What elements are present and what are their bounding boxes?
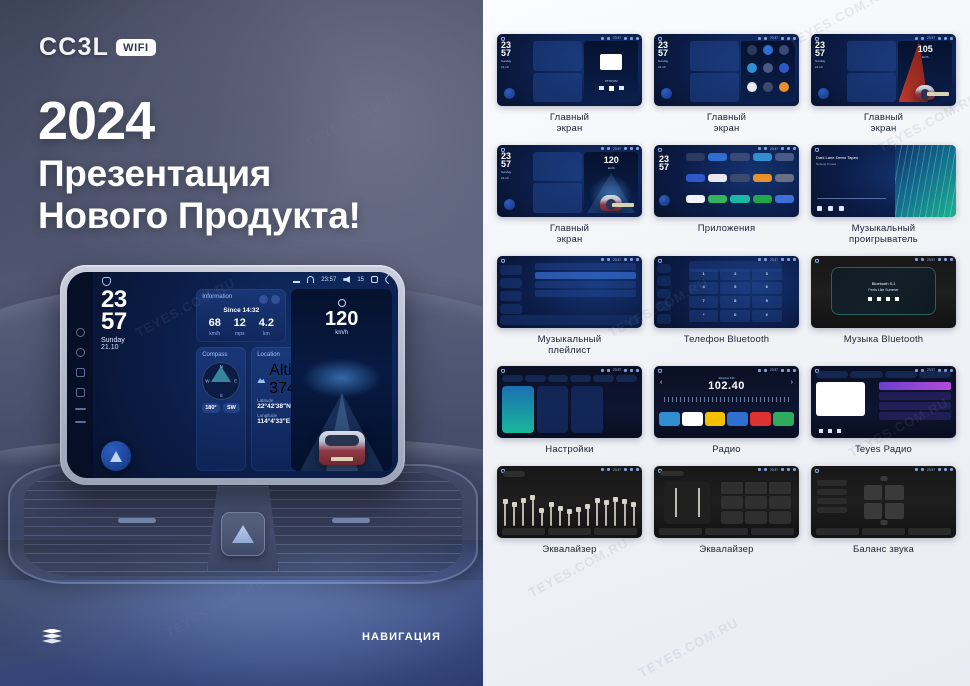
- speed-unit: km/h: [291, 330, 392, 336]
- speed-value: 105: [898, 45, 952, 54]
- eq-preset-button[interactable]: [769, 482, 791, 495]
- next-icon[interactable]: [619, 86, 624, 90]
- screen-thumbnail[interactable]: 23:57: [497, 256, 642, 328]
- side-button-rail[interactable]: [67, 272, 93, 478]
- screen-thumbnail[interactable]: 23:572357Sunday21.1007:50 FM: [497, 34, 642, 106]
- dialpad-key[interactable]: 3: [752, 269, 782, 281]
- power-icon[interactable]: [76, 328, 85, 337]
- car-3d-model: [915, 85, 935, 100]
- compass-values: 180° SW: [202, 403, 240, 413]
- menu-icon[interactable]: [75, 408, 86, 410]
- gallery-item-caption: Радио: [712, 444, 740, 455]
- eq-slider[interactable]: [587, 504, 589, 526]
- driving-view-widget[interactable]: 105km/h: [898, 41, 952, 102]
- app-icon[interactable]: [779, 45, 789, 55]
- gallery-item[interactable]: 23:572357Приложения: [654, 145, 799, 246]
- mountain-icon: [257, 377, 265, 383]
- compass-widget[interactable]: Compass N S W E 180°: [196, 347, 246, 471]
- information-widget[interactable]: Information Since 14:32 68: [196, 289, 286, 342]
- cast-icon: [944, 468, 947, 471]
- speed-limit-icon: [338, 299, 346, 307]
- app-icon[interactable]: [779, 82, 789, 92]
- eq-slider[interactable]: [633, 502, 635, 526]
- signal-icon: [915, 37, 918, 40]
- clock-widget: 2357: [659, 155, 682, 171]
- gallery-item[interactable]: 23:572357Sunday21.10120km/hГлавный экран: [497, 145, 642, 246]
- tab-artists[interactable]: [500, 291, 522, 301]
- player-controls: [868, 297, 899, 301]
- settings-tab[interactable]: [548, 375, 569, 382]
- brand-logo: CC3L WIFI: [39, 33, 156, 62]
- information-actions[interactable]: [259, 295, 280, 304]
- clock-day: Sunday: [501, 170, 531, 174]
- cast-icon: [787, 258, 790, 261]
- preset-label: [660, 471, 684, 476]
- tab-albums[interactable]: [500, 278, 522, 288]
- eq-slider[interactable]: [522, 498, 524, 525]
- eq-preset-button[interactable]: [745, 511, 767, 524]
- navigation-button[interactable]: [101, 441, 131, 471]
- eq-slider[interactable]: [578, 507, 580, 525]
- play-pause-icon[interactable]: [877, 297, 881, 301]
- screen-thumbnail[interactable]: 23:57: [497, 466, 642, 538]
- screen-thumbnail[interactable]: 23:57: [811, 466, 956, 538]
- radio-presets: [659, 412, 794, 426]
- clock-date: 21.10: [501, 176, 531, 180]
- volume-icon: [624, 258, 627, 261]
- station-item[interactable]: [879, 412, 952, 420]
- radio-preset[interactable]: [659, 412, 680, 426]
- screen-thumbnail[interactable]: 23:572357: [654, 145, 799, 217]
- ui-screen: 23:57 15 23 57 Sunday 21.10: [93, 272, 398, 478]
- preset[interactable]: [817, 489, 847, 495]
- prev-icon[interactable]: [599, 86, 604, 90]
- prev-icon[interactable]: [868, 297, 872, 301]
- headline-year: 2024: [38, 95, 361, 148]
- home-icon[interactable]: [815, 148, 819, 152]
- preset[interactable]: [817, 507, 847, 513]
- back-icon: [636, 369, 639, 372]
- app-icon[interactable]: [753, 195, 772, 203]
- dialpad-key[interactable]: 5: [720, 282, 750, 294]
- stat-value: 68: [209, 318, 221, 329]
- media-widget[interactable]: 07:50 FM: [584, 41, 638, 102]
- eq-slider[interactable]: [550, 502, 552, 526]
- home-layout: 23 57 Sunday 21.10: [101, 289, 392, 471]
- navigation-button[interactable]: [818, 88, 829, 99]
- dialpad-key[interactable]: 9: [752, 296, 782, 308]
- tab-fade[interactable]: [751, 528, 794, 535]
- warning-triangle-icon: [232, 525, 254, 543]
- eq-band-sliders: [504, 482, 635, 526]
- hero-footer: НАВИГАЦИЯ: [0, 622, 483, 652]
- pause-icon[interactable]: [828, 206, 833, 211]
- eq-preset-button[interactable]: [745, 496, 767, 509]
- app-icon[interactable]: [708, 174, 727, 182]
- dialpad-key[interactable]: 0: [720, 310, 750, 322]
- expand-icon[interactable]: [271, 295, 280, 304]
- play-icon[interactable]: [609, 86, 614, 91]
- settings-tab[interactable]: [616, 375, 637, 382]
- speaker-rl: [864, 503, 883, 519]
- app-icon[interactable]: [686, 174, 705, 182]
- information-widget[interactable]: [847, 41, 896, 71]
- eq-slider[interactable]: [513, 502, 515, 526]
- app-icon[interactable]: [730, 153, 749, 161]
- home-icon[interactable]: [501, 259, 505, 263]
- eq-preset-button[interactable]: [721, 482, 743, 495]
- dialpad-key[interactable]: #: [752, 310, 782, 322]
- layers-icon[interactable]: [42, 629, 62, 646]
- status-bar: 23:57: [601, 368, 639, 372]
- home-icon[interactable]: [76, 348, 85, 357]
- eq-preset-button[interactable]: [721, 511, 743, 524]
- settings-tab[interactable]: [525, 375, 546, 382]
- stat-value: 12: [234, 318, 246, 329]
- speaker-fr: [885, 485, 904, 501]
- compass-north: N: [220, 364, 223, 369]
- screen-thumbnail[interactable]: 23:572357Sunday21.10105km/h: [811, 34, 956, 106]
- prev-station-icon[interactable]: ‹: [660, 379, 662, 386]
- track-title: Dark Lane Demo Tapes: [816, 155, 891, 160]
- arrow-up-icon[interactable]: [880, 476, 887, 481]
- next-station-icon[interactable]: ›: [791, 379, 793, 386]
- gallery-item[interactable]: 23:572357Sunday21.10105km/hГлавный экран: [811, 34, 956, 135]
- clock-widget: 2357Sunday21.10: [501, 152, 531, 213]
- app-icon[interactable]: [763, 82, 773, 92]
- clock-widget[interactable]: 23 57 Sunday 21.10: [101, 289, 191, 351]
- signal-icon: [758, 37, 761, 40]
- next-icon[interactable]: [839, 206, 844, 211]
- navigation-button[interactable]: [661, 88, 672, 99]
- gallery-item[interactable]: 23:57Музыкальный плейлист: [497, 256, 642, 357]
- home-icon[interactable]: [815, 259, 819, 263]
- status-bar: 23:57: [915, 258, 953, 262]
- app-icon[interactable]: [753, 174, 772, 182]
- app-icon[interactable]: [747, 45, 757, 55]
- status-bar: 23:57: [758, 147, 796, 151]
- dialpad-key[interactable]: 7: [689, 296, 719, 308]
- eq-preset-button[interactable]: [769, 496, 791, 509]
- app-icon[interactable]: [775, 153, 794, 161]
- clock-minutes: 57: [501, 49, 531, 57]
- compass-widget[interactable]: [847, 73, 896, 103]
- app-icon[interactable]: [747, 82, 757, 92]
- app-icon[interactable]: [730, 174, 749, 182]
- album-art: [816, 382, 865, 416]
- wifi-icon: [607, 468, 610, 471]
- head-unit-device: 23:57 15 23 57 Sunday 21.10: [60, 265, 405, 485]
- navigation-button[interactable]: [504, 88, 515, 99]
- home-indicator-icon[interactable]: [102, 277, 111, 286]
- cast-icon: [944, 37, 947, 40]
- eq-tabs: [502, 528, 637, 535]
- cast-icon: [630, 369, 633, 372]
- volume-icon: [938, 468, 941, 471]
- widgets-column: Information Since 14:32 68: [196, 289, 286, 471]
- clock-minutes: 57: [101, 311, 191, 333]
- status-bar: 23:57: [758, 36, 796, 40]
- volume-icon: [624, 468, 627, 471]
- tab-folders[interactable]: [500, 304, 522, 314]
- progress-bar[interactable]: [817, 198, 886, 199]
- signal-icon: [758, 468, 761, 471]
- driving-view-widget[interactable]: 120 km/h: [291, 289, 392, 471]
- compass-heading: 180°: [202, 403, 220, 413]
- wifi-icon: [607, 147, 610, 150]
- home-icon[interactable]: [501, 369, 505, 373]
- station-item[interactable]: [879, 382, 952, 390]
- eq-preset-button[interactable]: [769, 511, 791, 524]
- tab-tracks[interactable]: [500, 265, 522, 275]
- driving-view-widget[interactable]: 120km/h: [584, 152, 638, 213]
- gallery-item[interactable]: 23:57Баланс звука: [811, 466, 956, 555]
- cast-icon: [630, 37, 633, 40]
- app-icon[interactable]: [708, 195, 727, 203]
- gallery-item[interactable]: 23:57123456789*0#Телефон Bluetooth: [654, 256, 799, 357]
- status-time: 23:57: [927, 258, 935, 262]
- stat-item: 4.2 km: [259, 318, 274, 337]
- stop-icon[interactable]: [828, 429, 832, 433]
- tab-sound[interactable]: [705, 528, 748, 535]
- tab-eq[interactable]: [816, 528, 859, 535]
- status-bar: 23:57: [601, 468, 639, 472]
- compass-widget[interactable]: [690, 73, 739, 103]
- app-icon[interactable]: [686, 195, 705, 203]
- bluetooth-name: Bluetooth 5.1: [872, 281, 896, 286]
- gallery-item[interactable]: 23:572357Sunday21.10Главный экран: [654, 34, 799, 135]
- tuning-scale: [664, 397, 789, 402]
- playlist-item[interactable]: [535, 281, 637, 288]
- compass-widget[interactable]: [533, 183, 582, 213]
- cast-icon: [787, 37, 790, 40]
- status-bar: 23:57: [915, 36, 953, 40]
- now-playing-bar[interactable]: [500, 315, 639, 325]
- settings-gear-icon[interactable]: [259, 295, 268, 304]
- tab-eq[interactable]: [659, 528, 702, 535]
- status-bar: 23:57: [601, 147, 639, 151]
- recents-icon[interactable]: [657, 301, 671, 311]
- eq-slider[interactable]: [605, 500, 607, 526]
- eq-slider[interactable]: [596, 498, 598, 525]
- headline: 2024 Презентация Нового Продукта!: [38, 95, 361, 237]
- speaker-balance-pad[interactable]: [864, 485, 904, 519]
- next-icon[interactable]: [837, 429, 841, 433]
- gallery-item[interactable]: 23:57Teyes Радио: [811, 366, 956, 455]
- eq-preset-button[interactable]: [721, 496, 743, 509]
- tab-fade[interactable]: [594, 528, 637, 535]
- radio-preset[interactable]: [773, 412, 794, 426]
- radio-preset[interactable]: [705, 412, 726, 426]
- prev-icon[interactable]: [819, 429, 823, 433]
- eq-slider[interactable]: [568, 509, 570, 526]
- signal-icon: [758, 369, 761, 372]
- playlist-item[interactable]: [535, 290, 637, 297]
- headline-line2: Нового Продукта!: [38, 195, 361, 237]
- radio-frequency: 102.40: [660, 380, 793, 392]
- speed-unit: km/h: [898, 55, 952, 59]
- screen-thumbnail[interactable]: 23:57Ekspluo FM102.40‹›: [654, 366, 799, 438]
- tab-sound[interactable]: [548, 528, 591, 535]
- app-icon[interactable]: [775, 174, 794, 182]
- eq-slider[interactable]: [698, 488, 700, 517]
- volume-icon: [938, 258, 941, 261]
- dialpad-key[interactable]: 1: [689, 269, 719, 281]
- stat-unit: km/h: [209, 331, 221, 337]
- app-icon[interactable]: [753, 153, 772, 161]
- bluetooth-card[interactable]: [537, 386, 569, 433]
- clock-minutes: 57: [659, 163, 682, 171]
- tab-eq[interactable]: [502, 528, 545, 535]
- speed-readout: 105km/h: [898, 45, 952, 59]
- app-icon[interactable]: [779, 63, 789, 73]
- information-widget[interactable]: [533, 152, 582, 182]
- playlist-item[interactable]: [535, 272, 637, 279]
- dialpad-key[interactable]: 8: [720, 296, 750, 308]
- station-item[interactable]: [879, 392, 952, 400]
- app-icon[interactable]: [763, 45, 773, 55]
- home-icon[interactable]: [815, 469, 819, 473]
- gallery-item[interactable]: 23:57Dark Lane Demo TapesNobody KnowsМуз…: [811, 145, 956, 246]
- information-widget[interactable]: [533, 41, 582, 71]
- app-icon[interactable]: [775, 195, 794, 203]
- settings-tab[interactable]: [593, 375, 614, 382]
- playlist-sidebar: [500, 265, 522, 314]
- prev-icon[interactable]: [817, 206, 822, 211]
- compass-dial: N S W E: [202, 362, 240, 400]
- dialpad-key[interactable]: 4: [689, 282, 719, 294]
- wifi-icon: [764, 369, 767, 372]
- settings-icon[interactable]: [657, 314, 671, 324]
- status-time: 23:57: [321, 277, 336, 283]
- home-icon[interactable]: [658, 369, 662, 373]
- volume-icon: [781, 147, 784, 150]
- gallery-item[interactable]: 23:57Эквалайзер: [497, 466, 642, 555]
- gallery-item-caption: Баланс звука: [853, 544, 914, 555]
- eq-slider[interactable]: [559, 506, 561, 526]
- eq-slider-box: [664, 482, 710, 524]
- car-3d-model: [319, 431, 365, 465]
- settings-tab[interactable]: [570, 375, 591, 382]
- dialpad-key[interactable]: 6: [752, 282, 782, 294]
- screen-thumbnail[interactable]: 23:57Bluetooth 5.1Feels Like Summer: [811, 256, 956, 328]
- gallery-item[interactable]: 23:57Настройки: [497, 366, 642, 455]
- gallery-item[interactable]: 23:57Ekspluo FM102.40‹›Радио: [654, 366, 799, 455]
- app-icon[interactable]: [763, 63, 773, 73]
- screen-thumbnail[interactable]: 23:57Dark Lane Demo TapesNobody Knows: [811, 145, 956, 217]
- preset[interactable]: [817, 480, 847, 486]
- volume-icon: [781, 37, 784, 40]
- preset[interactable]: [817, 498, 847, 504]
- navigation-button[interactable]: [504, 199, 515, 210]
- radio-preset[interactable]: [727, 412, 748, 426]
- tab-sound[interactable]: [862, 528, 905, 535]
- eq-slider[interactable]: [541, 508, 543, 526]
- back-icon: [950, 468, 953, 471]
- app-icon[interactable]: [708, 153, 727, 161]
- eq-slider[interactable]: [624, 499, 626, 525]
- road-column: 120 km/h: [291, 289, 392, 471]
- car-3d-model: [600, 195, 622, 211]
- volume-icon: [781, 258, 784, 261]
- information-widget[interactable]: [690, 41, 739, 71]
- app-icon[interactable]: [730, 195, 749, 203]
- compass-widget[interactable]: [533, 73, 582, 103]
- screen-thumbnail[interactable]: 23:57123456789*0#: [654, 256, 799, 328]
- wifi-icon: [764, 37, 767, 40]
- settings-tab[interactable]: [502, 375, 523, 382]
- home-icon[interactable]: [658, 259, 662, 263]
- eq-slider[interactable]: [675, 488, 677, 517]
- screen-thumbnail[interactable]: 23:572357Sunday21.10120km/h: [497, 145, 642, 217]
- radio-preset[interactable]: [682, 412, 703, 426]
- stop-icon[interactable]: [886, 297, 890, 301]
- back-icon[interactable]: [75, 421, 86, 423]
- information-stats: 68 km/h 12 mps 4.2 km: [202, 318, 280, 337]
- display-card[interactable]: [571, 386, 603, 433]
- station-item[interactable]: [879, 402, 952, 410]
- eq-slider[interactable]: [504, 499, 506, 525]
- gallery-item[interactable]: 23:57Bluetooth 5.1Feels Like SummerМузык…: [811, 256, 956, 357]
- arrow-down-icon[interactable]: [880, 520, 887, 525]
- gallery-item-caption: Главный экран: [550, 112, 589, 135]
- app-icon[interactable]: [686, 153, 705, 161]
- screen-thumbnail[interactable]: 23:57: [497, 366, 642, 438]
- dialpad-key[interactable]: 2: [720, 269, 750, 281]
- next-icon[interactable]: [895, 297, 899, 301]
- speed-value: 120: [291, 309, 392, 329]
- radio-preset[interactable]: [750, 412, 771, 426]
- clock-widget: 2357Sunday21.10: [501, 41, 531, 102]
- back-button[interactable]: [659, 195, 670, 206]
- home-layout: 2357Sunday21.10120km/h: [501, 152, 638, 213]
- eq-preset-button[interactable]: [745, 482, 767, 495]
- apps-panel[interactable]: [741, 41, 795, 102]
- wifi-card[interactable]: [502, 386, 534, 433]
- gallery-item[interactable]: 23:57Эквалайзер: [654, 466, 799, 555]
- dialpad-icon[interactable]: [657, 264, 671, 274]
- screen-thumbnail[interactable]: 23:572357Sunday21.10: [654, 34, 799, 106]
- gallery-item[interactable]: 23:572357Sunday21.1007:50 FMГлавный экра…: [497, 34, 642, 135]
- eq-slider[interactable]: [532, 495, 534, 526]
- back-icon: [636, 147, 639, 150]
- tab: [816, 371, 848, 378]
- vent-tab-right: [332, 518, 370, 523]
- tab: [885, 371, 917, 378]
- screen-thumbnail[interactable]: 23:57: [654, 466, 799, 538]
- playlist-item[interactable]: [535, 263, 637, 270]
- search-icon[interactable]: [657, 289, 671, 299]
- home-icon[interactable]: [658, 148, 662, 152]
- contacts-icon[interactable]: [657, 276, 671, 286]
- status-volume: 15: [357, 277, 364, 283]
- information-since: Since 14:32: [202, 307, 280, 314]
- tab-fade[interactable]: [908, 528, 951, 535]
- volume-icon[interactable]: [76, 388, 85, 397]
- signal-icon: [601, 147, 604, 150]
- eq-slider[interactable]: [614, 497, 616, 526]
- hazard-light-button[interactable]: [221, 512, 265, 556]
- app-icon[interactable]: [747, 63, 757, 73]
- apps-icon[interactable]: [76, 368, 85, 377]
- back-arrow-icon[interactable]: [384, 275, 394, 285]
- track-time: 07:50 FM: [584, 79, 638, 83]
- dialpad-key[interactable]: *: [689, 310, 719, 322]
- screen-thumbnail[interactable]: 23:57: [811, 366, 956, 438]
- wifi-icon: [921, 37, 924, 40]
- back-icon: [793, 468, 796, 471]
- widgets-column: [690, 41, 739, 102]
